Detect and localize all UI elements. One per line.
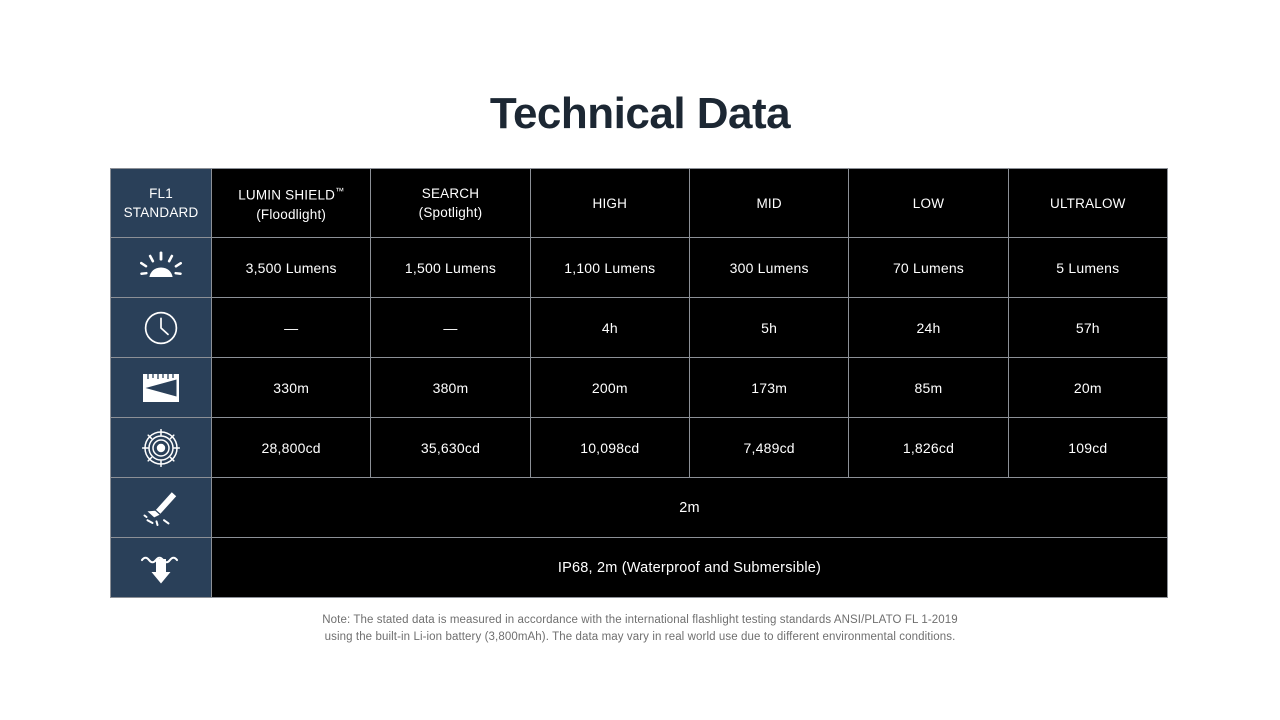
intensity-lumin-shield: 28,800cd [212, 418, 371, 478]
distance-lumin-shield: 330m [212, 358, 371, 418]
runtime-ultralow: 57h [1008, 298, 1167, 358]
distance-ultralow: 20m [1008, 358, 1167, 418]
water-resistance-icon [111, 538, 211, 597]
table-row-impact-resistance: 2m [111, 478, 1168, 538]
table-row-intensity: 28,800cd 35,630cd 10,098cd 7,489cd 1,826… [111, 418, 1168, 478]
intensity-ultralow: 109cd [1008, 418, 1167, 478]
header-col-lumin-shield-line2: (Floodlight) [212, 205, 370, 224]
fl1-label-line2: STANDARD [124, 205, 199, 220]
runtime-clock-icon [111, 298, 211, 357]
table-header-row: FL1 STANDARD LUMIN SHIELD™ (Floodlight) … [111, 169, 1168, 238]
runtime-lumin-shield: — [212, 298, 371, 358]
header-col-ultralow: ULTRALOW [1008, 169, 1167, 238]
lumens-low: 70 Lumens [849, 238, 1008, 298]
intensity-search: 35,630cd [371, 418, 530, 478]
impact-resistance-icon-cell [111, 478, 212, 538]
runtime-high: 4h [530, 298, 689, 358]
distance-mid: 173m [689, 358, 848, 418]
impact-resistance-icon [111, 478, 211, 537]
light-output-icon [111, 238, 211, 297]
light-output-icon-cell [111, 238, 212, 298]
header-col-mid: MID [689, 169, 848, 238]
intensity-low: 1,826cd [849, 418, 1008, 478]
water-resistance-value: IP68, 2m (Waterproof and Submersible) [212, 538, 1168, 598]
lumens-high: 1,100 Lumens [530, 238, 689, 298]
slide-root: Technical Data FL1 STANDARD LUMIN SHIELD… [0, 0, 1280, 720]
header-col-ultralow-line1: ULTRALOW [1050, 196, 1126, 211]
runtime-mid: 5h [689, 298, 848, 358]
intensity-mid: 7,489cd [689, 418, 848, 478]
water-resistance-icon-cell [111, 538, 212, 598]
impact-resistance-value: 2m [212, 478, 1168, 538]
header-col-lumin-shield-line1: LUMIN SHIELD [238, 188, 335, 203]
table-row-lumens: 3,500 Lumens 1,500 Lumens 1,100 Lumens 3… [111, 238, 1168, 298]
table-row-beam-distance: 330m 380m 200m 173m 85m 20m [111, 358, 1168, 418]
footnote-line-1: Note: The stated data is measured in acc… [0, 612, 1280, 629]
runtime-search: — [371, 298, 530, 358]
lumens-mid: 300 Lumens [689, 238, 848, 298]
intensity-high: 10,098cd [530, 418, 689, 478]
distance-low: 85m [849, 358, 1008, 418]
header-col-high-line1: HIGH [593, 196, 628, 211]
table-row-water-resistance: IP68, 2m (Waterproof and Submersible) [111, 538, 1168, 598]
footnote-line-2: using the built-in Li-ion battery (3,800… [0, 629, 1280, 646]
header-fl1-standard: FL1 STANDARD [111, 169, 212, 238]
footnote: Note: The stated data is measured in acc… [0, 612, 1280, 646]
fl1-label-line1: FL1 [149, 186, 173, 201]
runtime-low: 24h [849, 298, 1008, 358]
peak-beam-intensity-icon-cell [111, 418, 212, 478]
peak-beam-intensity-icon [111, 418, 211, 477]
beam-distance-icon-cell [111, 358, 212, 418]
lumens-ultralow: 5 Lumens [1008, 238, 1167, 298]
header-col-mid-line1: MID [756, 196, 781, 211]
trademark-icon: ™ [335, 186, 344, 196]
header-col-low: LOW [849, 169, 1008, 238]
header-col-search-line2: (Spotlight) [371, 203, 529, 222]
technical-data-table: FL1 STANDARD LUMIN SHIELD™ (Floodlight) … [110, 168, 1168, 598]
beam-distance-icon [111, 358, 211, 417]
lumens-search: 1,500 Lumens [371, 238, 530, 298]
header-col-search: SEARCH (Spotlight) [371, 169, 530, 238]
table-row-runtime: — — 4h 5h 24h 57h [111, 298, 1168, 358]
header-col-lumin-shield: LUMIN SHIELD™ (Floodlight) [212, 169, 371, 238]
lumens-lumin-shield: 3,500 Lumens [212, 238, 371, 298]
header-col-low-line1: LOW [913, 196, 944, 211]
page-title: Technical Data [0, 86, 1280, 142]
runtime-clock-icon-cell [111, 298, 212, 358]
distance-search: 380m [371, 358, 530, 418]
header-col-search-line1: SEARCH [422, 186, 479, 201]
header-col-high: HIGH [530, 169, 689, 238]
distance-high: 200m [530, 358, 689, 418]
